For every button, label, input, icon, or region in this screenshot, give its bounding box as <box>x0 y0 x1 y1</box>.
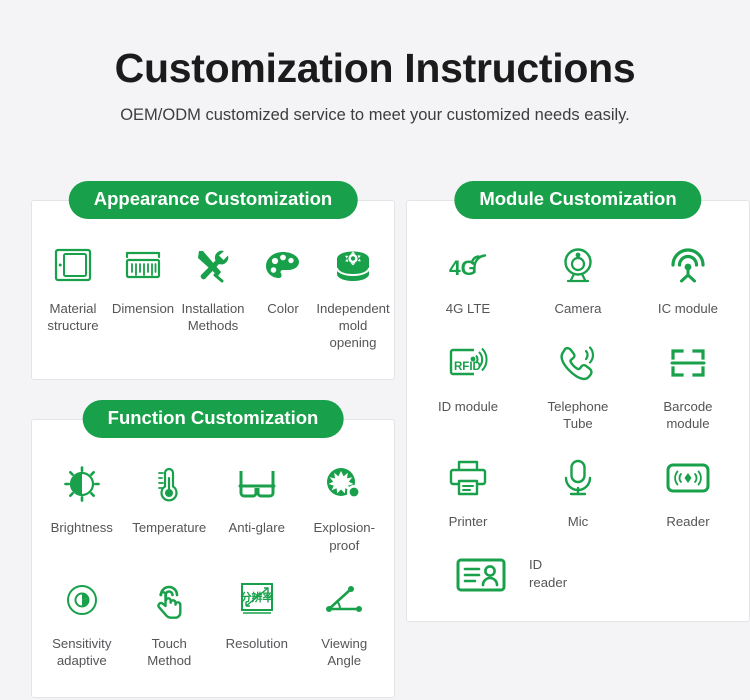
panels-layout: Appearance Customization Material struct… <box>0 200 750 698</box>
item-label: ID module <box>438 398 498 415</box>
4g-signal-icon: 4G <box>443 239 493 291</box>
item-ic-module[interactable]: IC module <box>633 235 743 333</box>
sensitivity-icon <box>60 574 104 626</box>
telephone-icon <box>554 337 602 389</box>
ic-antenna-icon <box>665 239 711 291</box>
item-label: Touch Method <box>147 635 191 669</box>
item-label: ID reader <box>529 556 567 590</box>
resolution-icon: 分辨率 <box>233 574 281 626</box>
item-label: 4G LTE <box>446 300 490 317</box>
item-label: Sensitivity adaptive <box>52 635 111 669</box>
item-material-structure[interactable]: Material structure <box>38 235 108 367</box>
page-subtitle: OEM/ODM customized service to meet your … <box>0 106 750 125</box>
item-label: Resolution <box>226 635 288 652</box>
page-title: Customization Instructions <box>0 46 750 92</box>
module-items-grid: 4G 4G LTE <box>407 201 749 621</box>
mold-opening-icon <box>331 239 375 291</box>
rfid-card-icon: RFID <box>443 337 493 389</box>
right-column: Module Customization 4G 4G LTE <box>395 200 750 698</box>
item-sensitivity-adaptive[interactable]: Sensitivity adaptive <box>38 570 126 685</box>
item-label: Printer <box>449 513 488 530</box>
explosion-proof-icon <box>321 458 367 510</box>
item-label: Brightness <box>51 519 113 536</box>
panel-appearance: Appearance Customization Material struct… <box>31 200 395 380</box>
barcode-scan-icon <box>664 337 712 389</box>
panel-title-function: Function Customization <box>83 400 344 438</box>
item-color[interactable]: Color <box>248 235 318 367</box>
item-label: Explosion- proof <box>313 519 375 553</box>
brightness-icon <box>60 458 104 510</box>
item-label: IC module <box>658 300 718 317</box>
panel-function: Function Customization <box>31 419 395 698</box>
dimension-ruler-icon <box>121 239 165 291</box>
item-dimension[interactable]: Dimension <box>108 235 178 367</box>
item-viewing-angle[interactable]: Viewing Angle <box>301 570 389 685</box>
touch-hand-icon <box>147 574 191 626</box>
installation-tools-icon <box>191 239 235 291</box>
appearance-items-grid: Material structure Dimension <box>32 201 394 379</box>
panel-title-module: Module Customization <box>454 181 701 219</box>
item-id-module[interactable]: RFID ID module <box>413 333 523 448</box>
camera-icon <box>555 239 601 291</box>
item-label: Independent mold opening <box>316 300 389 351</box>
item-resolution[interactable]: 分辨率 Resolution <box>213 570 301 685</box>
item-mold-opening[interactable]: Independent mold opening <box>318 235 388 367</box>
panel-title-appearance: Appearance Customization <box>69 181 358 219</box>
item-label: Camera <box>555 300 602 317</box>
material-structure-icon <box>51 239 95 291</box>
page-header: Customization Instructions OEM/ODM custo… <box>0 0 750 125</box>
item-brightness[interactable]: Brightness <box>38 454 126 569</box>
left-column: Appearance Customization Material struct… <box>0 200 395 698</box>
item-label: Anti-glare <box>229 519 285 536</box>
customization-instructions-page: Customization Instructions OEM/ODM custo… <box>0 0 750 700</box>
thermometer-icon <box>147 458 191 510</box>
item-label: Barcode module <box>663 398 712 432</box>
microphone-icon <box>556 452 600 504</box>
item-barcode-module[interactable]: Barcode module <box>633 333 743 448</box>
item-4g-lte[interactable]: 4G 4G LTE <box>413 235 523 333</box>
item-installation-methods[interactable]: Installation Methods <box>178 235 248 367</box>
item-label: Telephone Tube <box>548 398 609 432</box>
nfc-reader-icon <box>662 452 714 504</box>
color-palette-icon <box>261 239 305 291</box>
item-label: Mic <box>568 513 589 530</box>
item-label: Installation Methods <box>181 300 244 334</box>
item-label: Material structure <box>47 300 98 334</box>
item-printer[interactable]: Printer <box>413 448 523 546</box>
item-label: Reader <box>666 513 709 530</box>
function-items-grid: Brightness <box>32 420 394 697</box>
item-telephone-tube[interactable]: Telephone Tube <box>523 333 633 448</box>
item-camera[interactable]: Camera <box>523 235 633 333</box>
item-touch-method[interactable]: Touch Method <box>126 570 214 685</box>
item-anti-glare[interactable]: Anti-glare <box>213 454 301 569</box>
printer-icon <box>444 452 492 504</box>
item-temperature[interactable]: Temperature <box>126 454 214 569</box>
item-label: Temperature <box>132 519 206 536</box>
anti-glare-icon <box>234 458 280 510</box>
viewing-angle-icon <box>320 574 368 626</box>
panel-module: Module Customization 4G 4G LTE <box>406 200 750 622</box>
item-reader[interactable]: Reader <box>633 448 743 546</box>
id-reader-icon <box>453 551 509 597</box>
item-mic[interactable]: Mic <box>523 448 633 546</box>
item-label: Viewing Angle <box>321 635 367 669</box>
item-label: Color <box>267 300 299 317</box>
item-id-reader[interactable]: ID reader <box>413 547 523 609</box>
item-label: Dimension <box>112 300 174 317</box>
item-explosion-proof[interactable]: Explosion- proof <box>301 454 389 569</box>
